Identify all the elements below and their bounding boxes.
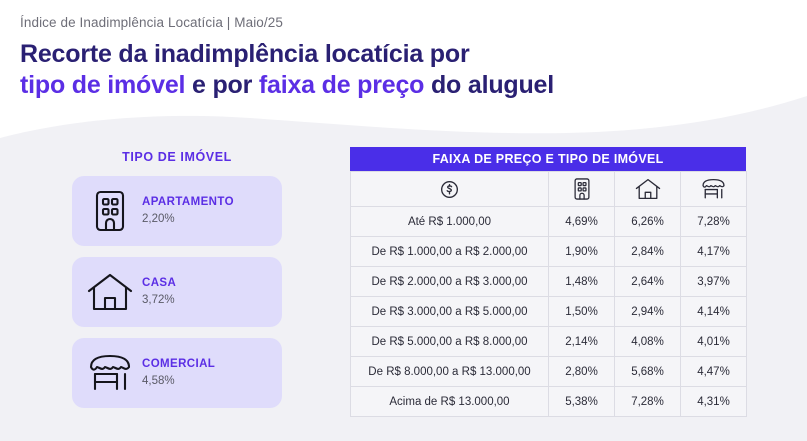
- property-type-meta: COMERCIAL 4,58%: [142, 357, 215, 389]
- property-type-value: 2,20%: [142, 211, 234, 227]
- cell-apartamento: 5,38%: [549, 387, 615, 417]
- property-type-panel-title: TIPO DE IMÓVEL: [72, 150, 282, 164]
- table-body: Até R$ 1.000,00 4,69% 6,26% 7,28% De R$ …: [351, 207, 747, 417]
- cell-casa: 2,94%: [615, 297, 681, 327]
- storefront-icon: [84, 349, 136, 397]
- table-row: De R$ 5.000,00 a R$ 8.000,00 2,14% 4,08%…: [351, 327, 747, 357]
- cell-comercial: 4,14%: [681, 297, 747, 327]
- cell-comercial: 4,47%: [681, 357, 747, 387]
- cell-range: De R$ 1.000,00 a R$ 2.000,00: [351, 237, 549, 267]
- table-row: De R$ 2.000,00 a R$ 3.000,00 1,48% 2,64%…: [351, 267, 747, 297]
- cell-casa: 2,84%: [615, 237, 681, 267]
- property-type-panel: TIPO DE IMÓVEL APARTAMENTO 2,20%: [72, 150, 282, 419]
- cell-casa: 6,26%: [615, 207, 681, 237]
- property-type-meta: APARTAMENTO 2,20%: [142, 195, 234, 227]
- cell-casa: 7,28%: [615, 387, 681, 417]
- property-type-label: APARTAMENTO: [142, 195, 234, 210]
- table-header-comercial: [681, 172, 747, 207]
- cell-apartamento: 4,69%: [549, 207, 615, 237]
- table-row: De R$ 8.000,00 a R$ 13.000,00 2,80% 5,68…: [351, 357, 747, 387]
- property-type-label: CASA: [142, 276, 176, 291]
- title-tail: do aluguel: [424, 71, 554, 99]
- title-highlight-tipo: tipo de imóvel: [20, 71, 185, 99]
- cell-apartamento: 2,14%: [549, 327, 615, 357]
- table-grid: Até R$ 1.000,00 4,69% 6,26% 7,28% De R$ …: [350, 171, 747, 417]
- property-type-card-comercial[interactable]: COMERCIAL 4,58%: [72, 338, 282, 408]
- property-type-card-casa[interactable]: CASA 3,72%: [72, 257, 282, 327]
- house-icon: [615, 172, 680, 206]
- cell-range: De R$ 2.000,00 a R$ 3.000,00: [351, 267, 549, 297]
- cell-apartamento: 1,90%: [549, 237, 615, 267]
- cell-apartamento: 2,80%: [549, 357, 615, 387]
- cell-range: Acima de R$ 13.000,00: [351, 387, 549, 417]
- apartment-building-icon: [84, 187, 136, 235]
- cell-apartamento: 1,50%: [549, 297, 615, 327]
- cell-apartamento: 1,48%: [549, 267, 615, 297]
- property-type-value: 4,58%: [142, 373, 215, 389]
- cell-casa: 4,08%: [615, 327, 681, 357]
- table-row: Acima de R$ 13.000,00 5,38% 7,28% 4,31%: [351, 387, 747, 417]
- cell-comercial: 4,01%: [681, 327, 747, 357]
- cell-range: De R$ 5.000,00 a R$ 8.000,00: [351, 327, 549, 357]
- eyebrow-label: Índice de Inadimplência Locatícia | Maio…: [20, 14, 720, 32]
- cell-casa: 5,68%: [615, 357, 681, 387]
- storefront-icon: [681, 172, 746, 206]
- dollar-coin-icon: [351, 172, 548, 206]
- property-type-meta: CASA 3,72%: [142, 276, 176, 308]
- property-type-card-apartamento[interactable]: APARTAMENTO 2,20%: [72, 176, 282, 246]
- cell-comercial: 3,97%: [681, 267, 747, 297]
- table-header-row: [351, 172, 747, 207]
- title-conjunction: e por: [185, 71, 259, 99]
- table-title-bar: FAIXA DE PREÇO E TIPO DE IMÓVEL: [350, 147, 746, 171]
- table-header-price: [351, 172, 549, 207]
- table-row: De R$ 3.000,00 a R$ 5.000,00 1,50% 2,94%…: [351, 297, 747, 327]
- table-header-apartamento: [549, 172, 615, 207]
- infographic-canvas: Índice de Inadimplência Locatícia | Maio…: [0, 0, 807, 441]
- cell-range: Até R$ 1.000,00: [351, 207, 549, 237]
- cell-range: De R$ 3.000,00 a R$ 5.000,00: [351, 297, 549, 327]
- house-icon: [84, 268, 136, 316]
- title-line-1: Recorte da inadimplência locatícia por: [20, 40, 469, 68]
- table-row: De R$ 1.000,00 a R$ 2.000,00 1,90% 2,84%…: [351, 237, 747, 267]
- apartment-building-icon: [549, 172, 614, 206]
- cell-comercial: 4,17%: [681, 237, 747, 267]
- header-block: Índice de Inadimplência Locatícia | Maio…: [20, 14, 720, 101]
- page-title: Recorte da inadimplência locatícia por t…: [20, 39, 720, 101]
- table-row: Até R$ 1.000,00 4,69% 6,26% 7,28%: [351, 207, 747, 237]
- table-header-casa: [615, 172, 681, 207]
- cell-comercial: 4,31%: [681, 387, 747, 417]
- price-range-table: FAIXA DE PREÇO E TIPO DE IMÓVEL: [350, 147, 746, 417]
- cell-casa: 2,64%: [615, 267, 681, 297]
- property-type-value: 3,72%: [142, 292, 176, 308]
- cell-range: De R$ 8.000,00 a R$ 13.000,00: [351, 357, 549, 387]
- property-type-label: COMERCIAL: [142, 357, 215, 372]
- cell-comercial: 7,28%: [681, 207, 747, 237]
- title-highlight-faixa: faixa de preço: [259, 71, 424, 99]
